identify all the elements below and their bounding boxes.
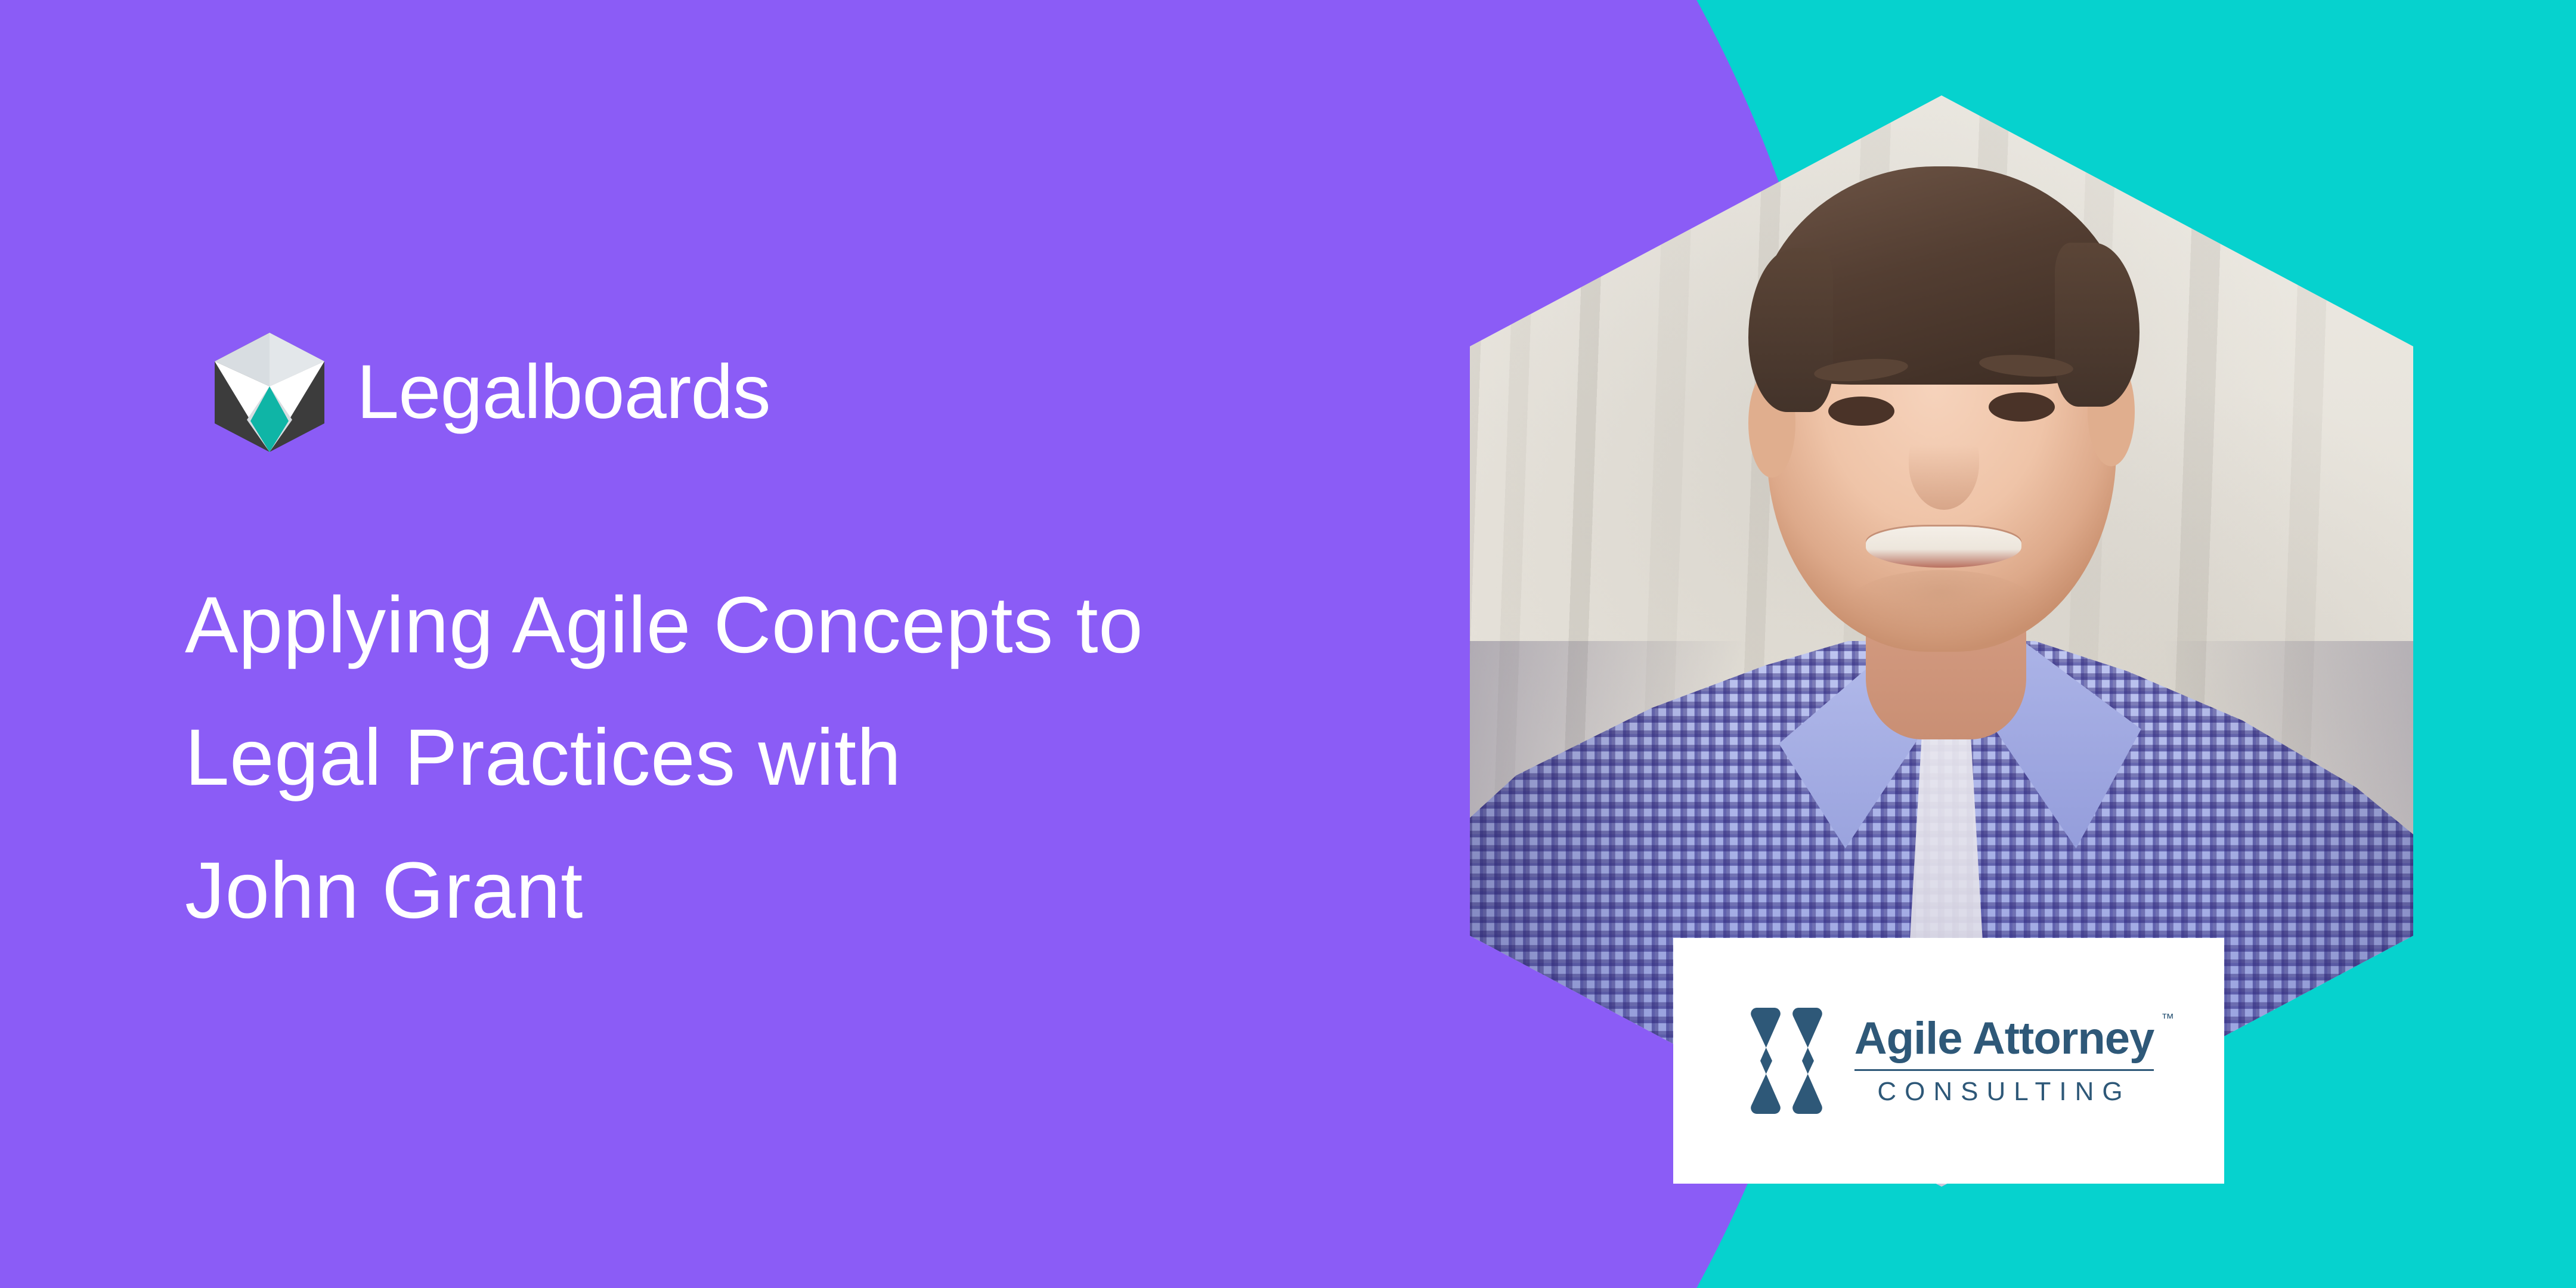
double-chevron-icon (1744, 1004, 1833, 1117)
nose (1909, 417, 1980, 510)
gem-crystal-icon (210, 332, 329, 453)
divider-rule (1854, 1069, 2154, 1071)
trademark-symbol: ™ (2161, 1011, 2174, 1025)
headline-line-3: John Grant (185, 825, 1258, 957)
partner-name-text: Agile Attorney (1854, 1013, 2154, 1064)
partner-logo-card: Agile Attorney™ CONSULTING (1673, 938, 2224, 1184)
headline-line-1: Applying Agile Concepts to (185, 559, 1258, 692)
agile-attorney-logo: Agile Attorney™ CONSULTING (1744, 1004, 2154, 1117)
page-title: Applying Agile Concepts to Legal Practic… (185, 559, 1258, 957)
chin (1847, 570, 2036, 641)
partner-name: Agile Attorney™ (1854, 1015, 2154, 1063)
agile-attorney-wordmark: Agile Attorney™ CONSULTING (1854, 1015, 2154, 1107)
smiling-mouth (1866, 527, 2021, 568)
headline-line-2: Legal Practices with (185, 692, 1258, 824)
eye-left (1828, 397, 1894, 426)
eye-right (1989, 392, 2055, 422)
banner-canvas: Legalboards Applying Agile Concepts to L… (0, 0, 2576, 1288)
partner-subtitle: CONSULTING (1854, 1077, 2154, 1107)
brand-name: Legalboards (357, 354, 770, 431)
brand-lockup: Legalboards (210, 332, 770, 453)
